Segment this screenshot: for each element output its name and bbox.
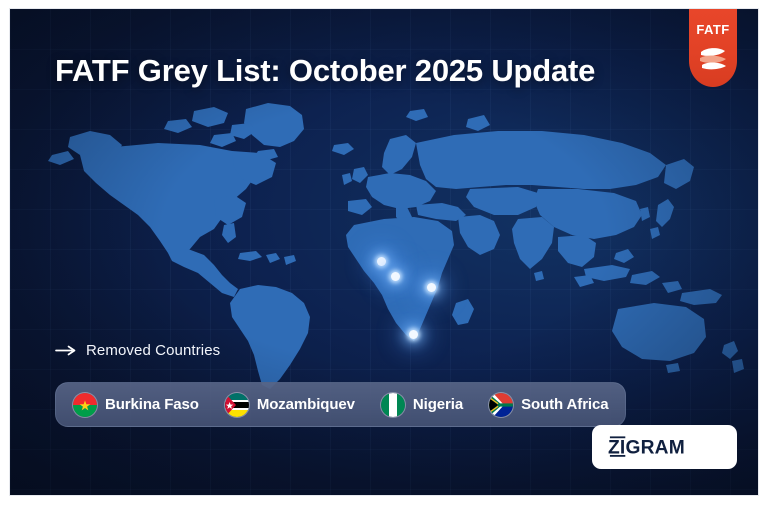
fatf-swirl-icon	[697, 43, 729, 75]
map-marker-nigeria	[391, 272, 400, 281]
poster-canvas: FATF Grey List: October 2025 Update FATF…	[10, 9, 758, 495]
flag-nigeria-icon	[381, 393, 405, 417]
country-label: Burkina Faso	[105, 396, 199, 413]
legend-label: Removed Countries	[86, 342, 220, 359]
country-item-south-africa[interactable]: South Africa	[489, 393, 608, 417]
fatf-badge-label: FATF	[689, 22, 737, 37]
arrow-right-icon	[55, 344, 77, 357]
flag-mozambique-icon	[225, 393, 249, 417]
zigram-logo: ZIGRAM	[592, 425, 737, 469]
fatf-logo-badge: FATF	[689, 9, 737, 87]
country-label: Nigeria	[413, 396, 463, 413]
country-label: Mozambiquev	[257, 396, 355, 413]
country-label: South Africa	[521, 396, 608, 413]
removed-countries-bar: Burkina Faso Mozambiquev	[55, 382, 626, 427]
country-item-nigeria[interactable]: Nigeria	[381, 393, 463, 417]
poster-frame: FATF Grey List: October 2025 Update FATF…	[0, 0, 768, 511]
flag-burkina-faso-icon	[73, 393, 97, 417]
map-marker-mozambique	[427, 283, 436, 292]
map-marker-burkina-faso	[377, 257, 386, 266]
legend: Removed Countries	[55, 342, 220, 359]
svg-text:ZIGRAM: ZIGRAM	[608, 438, 685, 459]
country-item-burkina-faso[interactable]: Burkina Faso	[73, 393, 199, 417]
flag-south-africa-icon	[489, 393, 513, 417]
map-marker-south-africa	[409, 330, 418, 339]
zigram-wordmark-icon: ZIGRAM	[608, 434, 721, 459]
country-item-mozambique[interactable]: Mozambiquev	[225, 393, 355, 417]
page-title: FATF Grey List: October 2025 Update	[55, 53, 595, 89]
